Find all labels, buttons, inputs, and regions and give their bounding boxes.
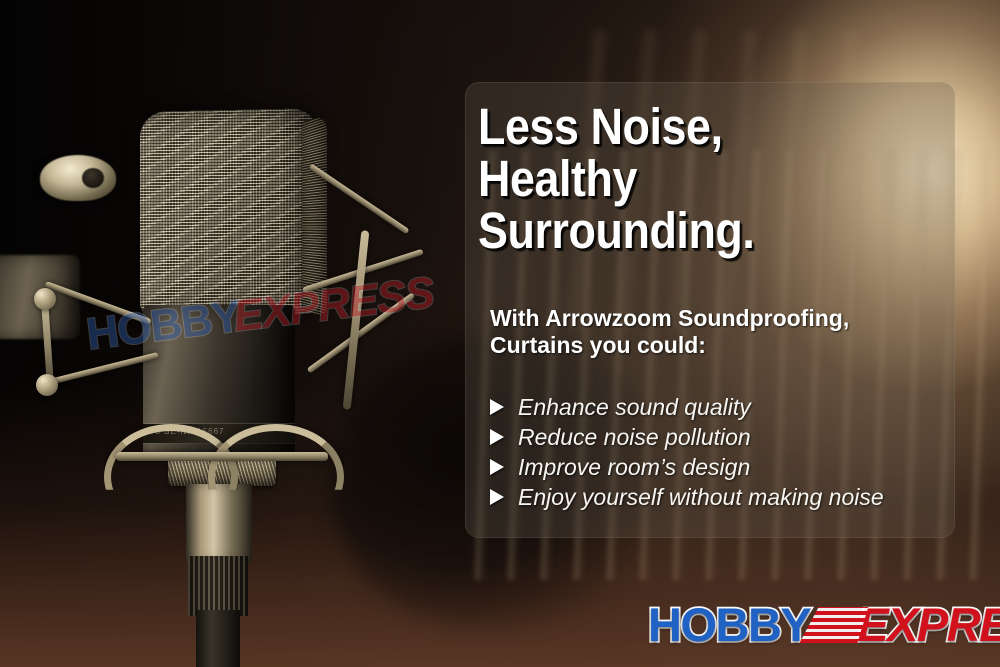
mic-stem-upper (186, 484, 252, 562)
mic-mount-top-screw (82, 168, 104, 188)
list-item: Enhance sound quality (490, 392, 950, 422)
logo-hobby-text: HOBBY (648, 597, 810, 652)
mic-stem-lower (196, 610, 240, 667)
mic-stem-grip (188, 556, 248, 616)
list-item: Enjoy yourself without making noise (490, 482, 950, 512)
triangle-right-icon (490, 489, 504, 505)
logo-express-text: EXPRESS (857, 597, 1000, 652)
list-item-label: Improve room’s design (518, 454, 750, 481)
list-item-label: Enhance sound quality (518, 394, 751, 421)
mic-mount-cradle-bar (116, 452, 328, 461)
brand-logo: HOBBY EXPRESS (648, 598, 1000, 650)
mic-mount-ball-left-lower (36, 374, 58, 396)
list-item: Reduce noise pollution (490, 422, 950, 452)
promo-banner: 78 SE-NR 15667 HOBBY EXPRESS Less Noise,… (0, 0, 1000, 667)
subheadline: With Arrowzoom Soundproofing, Curtains y… (490, 305, 940, 359)
microphone-photo: 78 SE-NR 15667 (0, 0, 460, 667)
mic-mount-top-knob (40, 155, 116, 201)
benefits-list: Enhance sound quality Reduce noise pollu… (490, 392, 950, 512)
list-item-label: Reduce noise pollution (518, 424, 751, 451)
list-item: Improve room’s design (490, 452, 950, 482)
mic-grille (140, 108, 320, 317)
triangle-right-icon (490, 429, 504, 445)
triangle-right-icon (490, 459, 504, 475)
headline: Less Noise, Healthy Surrounding. (478, 101, 892, 257)
list-item-label: Enjoy yourself without making noise (518, 484, 884, 511)
mic-mount-ball-left (34, 288, 56, 310)
mic-mount-arm-far-right (343, 230, 370, 410)
mic-mount-arm-left-lower (45, 352, 159, 386)
triangle-right-icon (490, 399, 504, 415)
